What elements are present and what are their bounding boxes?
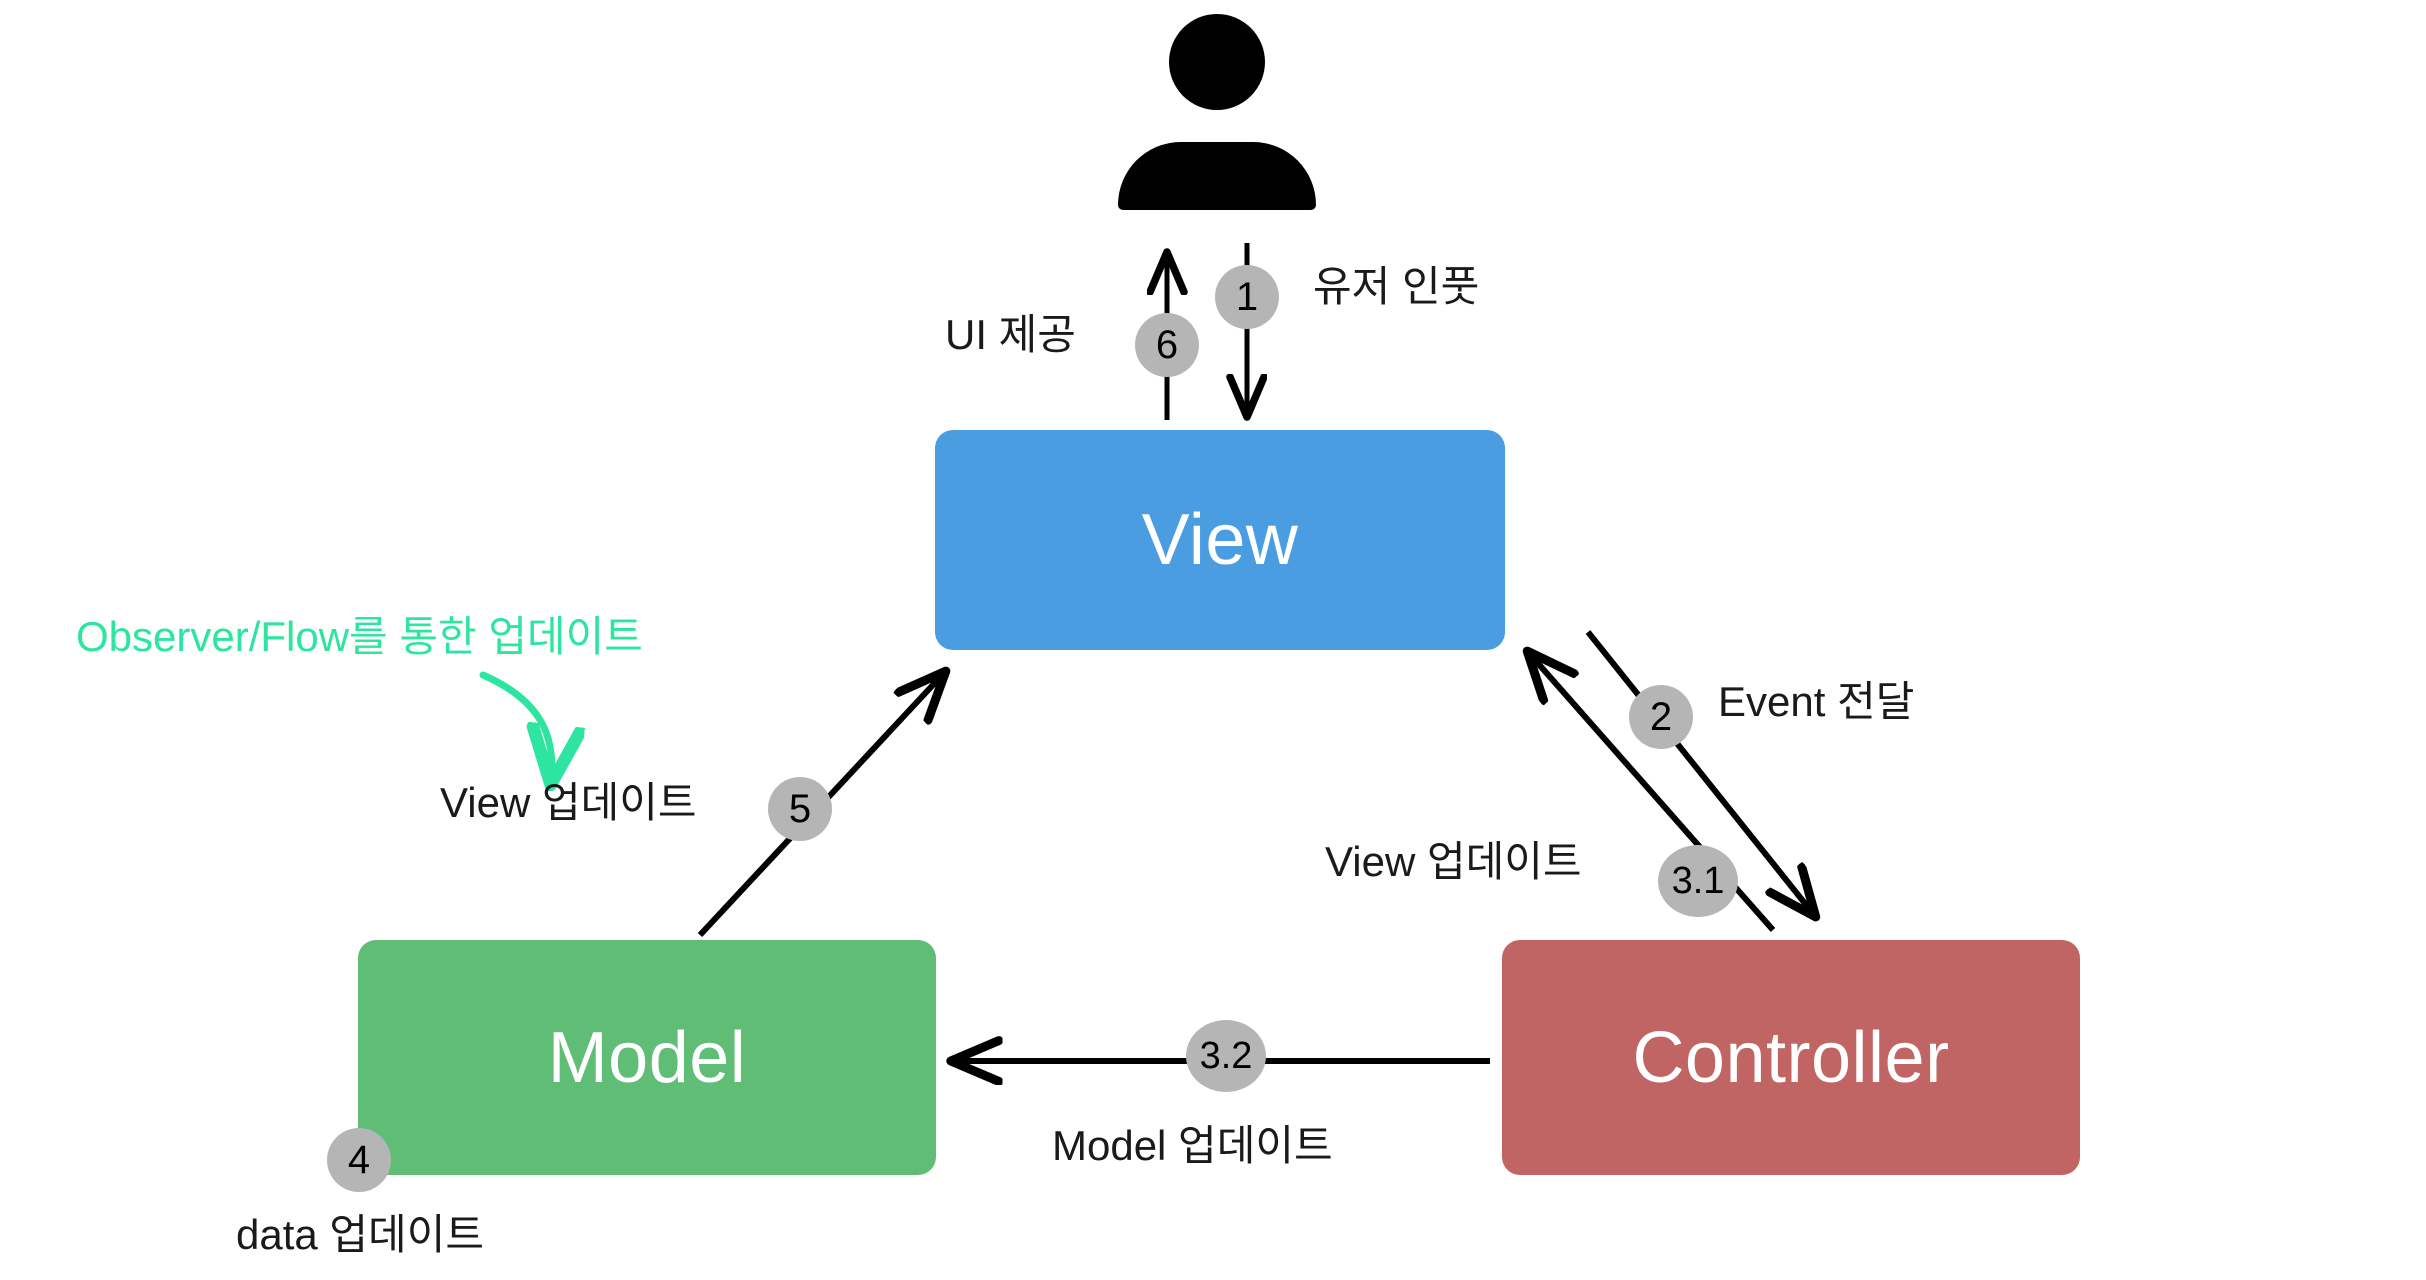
person-icon	[1112, 14, 1322, 214]
step-badge-4: 4	[327, 1128, 391, 1192]
label-observer-note: Observer/Flow를 통한 업데이트	[76, 613, 643, 661]
node-model[interactable]: Model	[358, 940, 936, 1175]
label-user-input: 유저 인풋	[1313, 263, 1479, 311]
person-head	[1169, 14, 1265, 110]
step-badge-1: 1	[1215, 265, 1279, 329]
step-badge-6: 6	[1135, 313, 1199, 377]
label-data-update: data 업데이트	[236, 1211, 484, 1259]
label-ui-provide: UI 제공	[945, 311, 1076, 359]
label-model-update: Model 업데이트	[1052, 1122, 1333, 1170]
mvc-diagram-canvas: View Model Controller 1 6 2 3.1 3.2 5 4 …	[0, 0, 2426, 1280]
node-controller-label: Controller	[1632, 1022, 1949, 1094]
person-body	[1118, 142, 1316, 210]
step-badge-5: 5	[768, 777, 832, 841]
node-controller[interactable]: Controller	[1502, 940, 2080, 1175]
label-view-update-left: View 업데이트	[440, 779, 697, 827]
label-view-update-right: View 업데이트	[1325, 838, 1582, 886]
label-event-delivery: Event 전달	[1718, 678, 1914, 726]
node-model-label: Model	[548, 1022, 747, 1094]
node-view-label: View	[1142, 504, 1299, 576]
observer-note-arrow	[483, 675, 552, 782]
step-badge-3-1: 3.1	[1658, 845, 1738, 917]
node-view[interactable]: View	[935, 430, 1505, 650]
step-badge-3-2: 3.2	[1186, 1020, 1266, 1092]
step-badge-2: 2	[1629, 685, 1693, 749]
